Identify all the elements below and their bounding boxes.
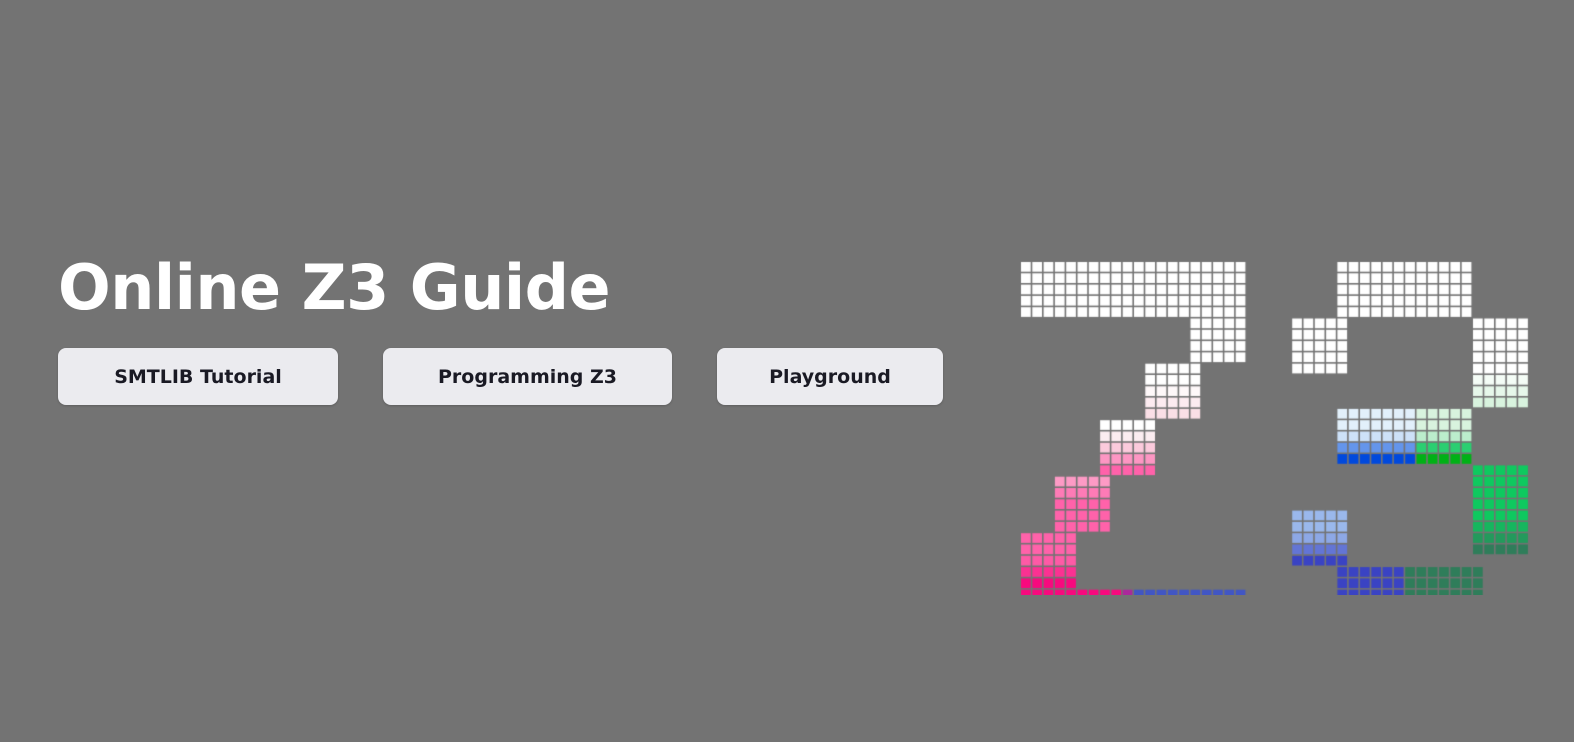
smtlib-tutorial-button[interactable]: SMTLIB Tutorial — [58, 348, 338, 405]
hero-nav-buttons: SMTLIB TutorialProgramming Z3Playground — [58, 348, 958, 405]
z3-pixel-logo — [1000, 245, 1540, 595]
hero-section: Online Z3 Guide SMTLIB TutorialProgrammi… — [0, 0, 1574, 742]
page-title: Online Z3 Guide — [58, 255, 958, 320]
playground-button[interactable]: Playground — [717, 348, 943, 405]
hero-text-block: Online Z3 Guide SMTLIB TutorialProgrammi… — [58, 255, 958, 405]
programming-z3-button[interactable]: Programming Z3 — [383, 348, 672, 405]
